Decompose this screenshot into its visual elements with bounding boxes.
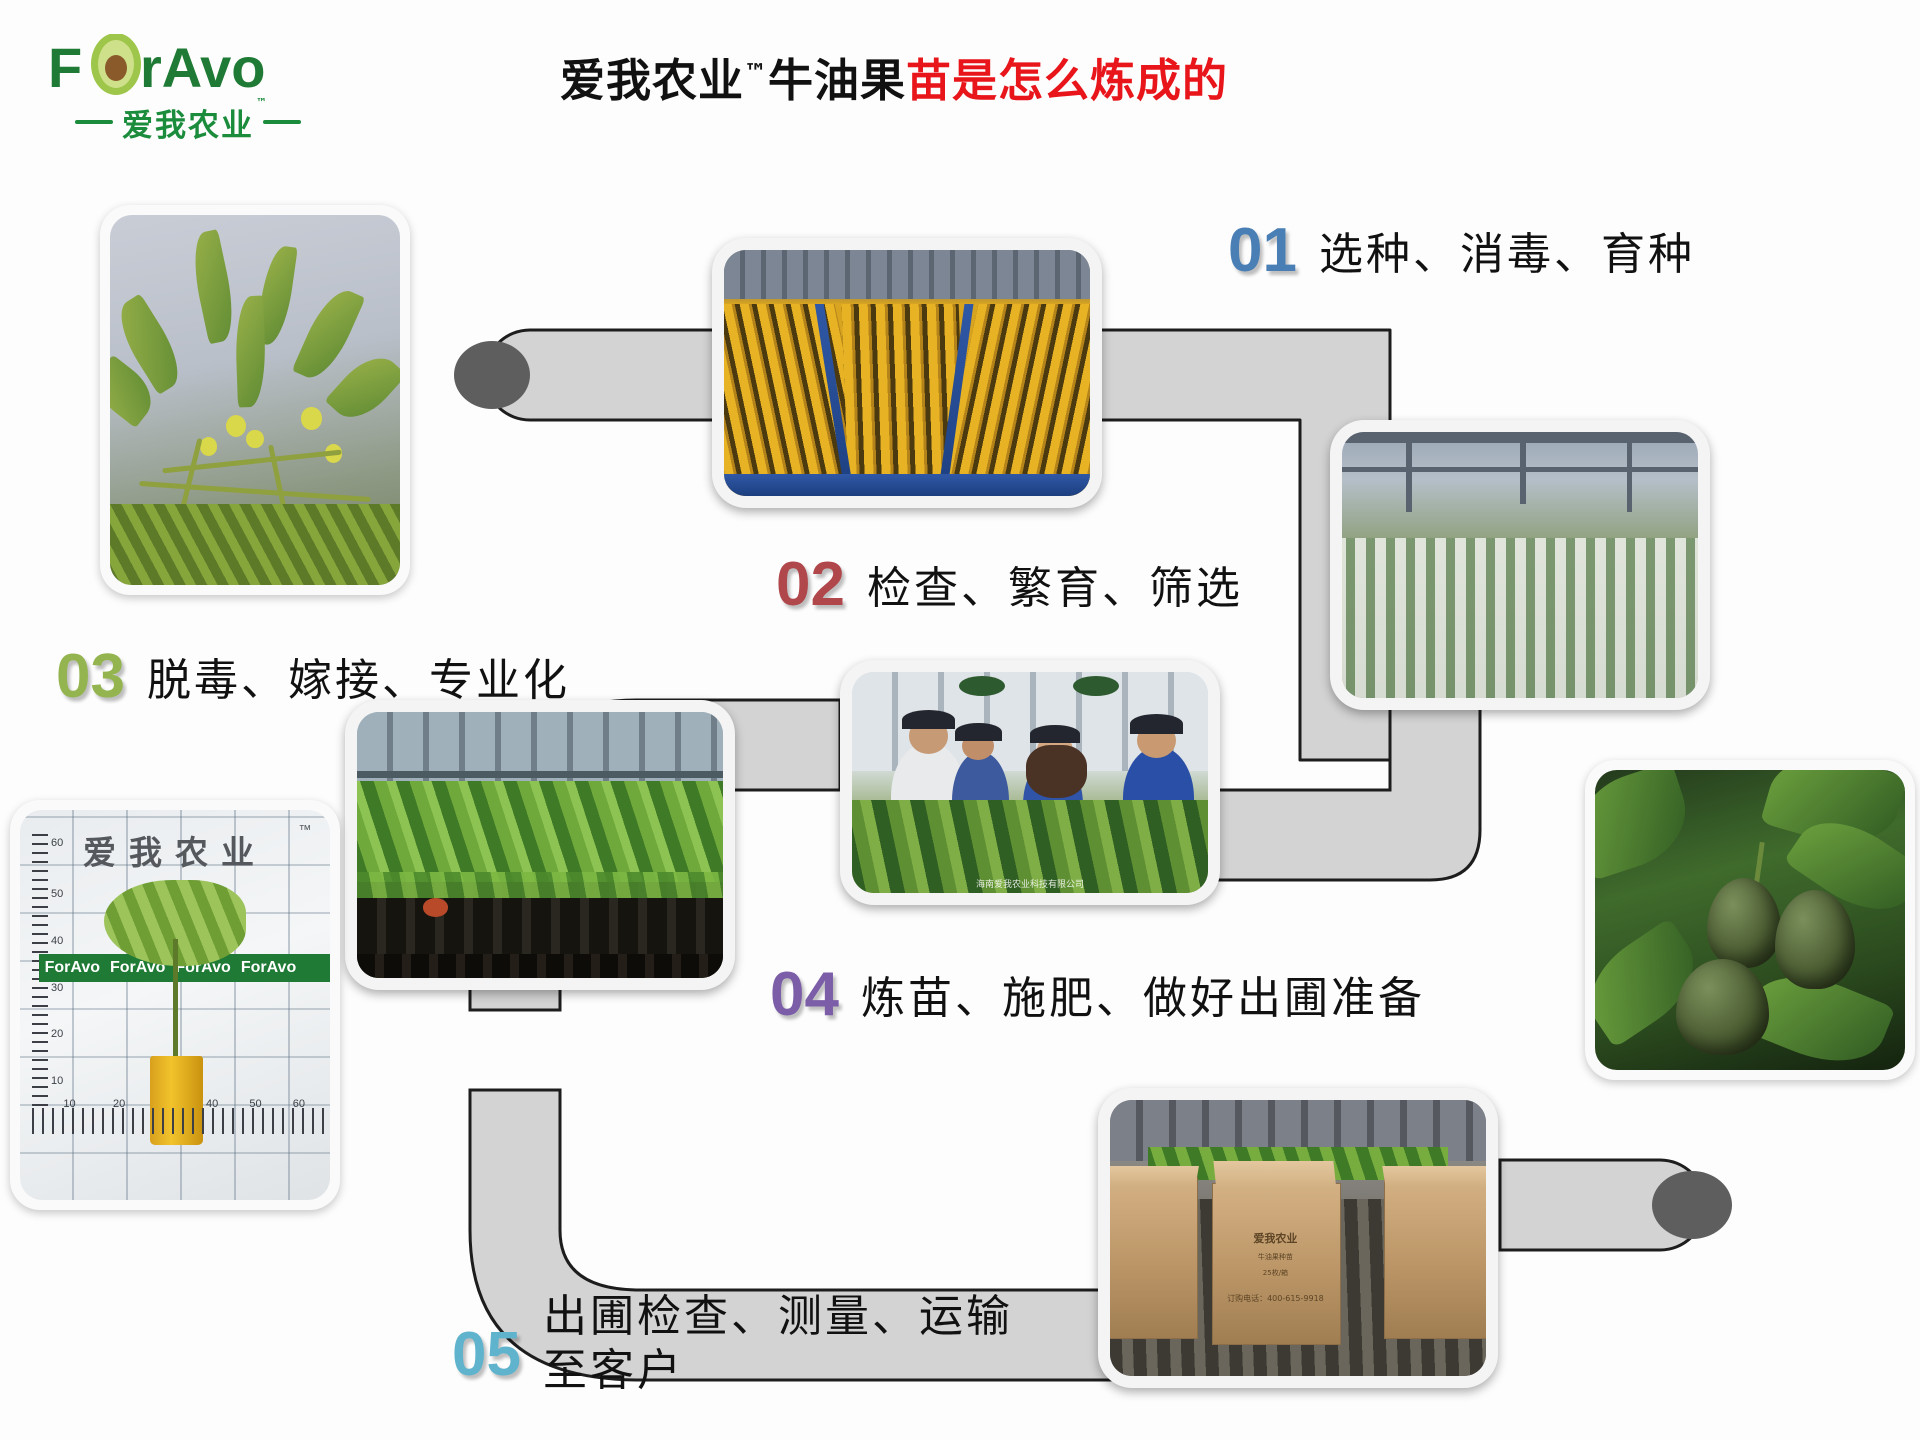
photo-seed-germination-trays — [712, 238, 1102, 508]
brand-tm: ™ — [256, 96, 269, 109]
step-number-01: 01 — [1228, 222, 1297, 281]
photo-inner — [357, 712, 723, 978]
svg-text:rAvo: rAvo — [140, 36, 266, 99]
photo-greenhouse-grafting-bags — [1330, 420, 1710, 710]
step-caption-01: 01 选种、消毒、育种 — [1228, 222, 1695, 282]
step-text-05-line2: 至客户 — [543, 1344, 1013, 1398]
flow-start-dot — [454, 341, 530, 409]
board-tick-v: 40 — [51, 935, 63, 947]
title-tm: ™ — [744, 60, 768, 86]
infographic-canvas: F rAvo 爱我农业 ™ 爱我农业™牛油果苗是怎么炼成的 — [0, 0, 1920, 1440]
logo-dash-left — [75, 120, 113, 124]
photo-potted-seedlings — [345, 700, 735, 990]
photo-team-inspection: 海南爱我农业科技有限公司 — [840, 660, 1220, 905]
title-highlight: 苗是怎么炼成的 — [906, 54, 1228, 107]
step-text-03: 脱毒、嫁接、专业化 — [147, 648, 570, 708]
step-number-02: 02 — [776, 556, 845, 615]
board-tick-v: 30 — [51, 982, 63, 994]
photo-inner — [110, 215, 400, 585]
brand-chinese-label: 爱我农业 ™ — [122, 100, 254, 145]
board-tick-v: 20 — [51, 1028, 63, 1040]
step-text-05-line1: 出圃检查、测量、运输 — [543, 1291, 1013, 1342]
box-line2: 牛油果种苗 — [1212, 1252, 1340, 1262]
photo-inner: 爱我农业 牛油果种苗 25枚/箱 订购电话：400-615-9918 — [1110, 1100, 1486, 1376]
logo-dash-right — [263, 120, 301, 124]
board-tick-v: 50 — [51, 888, 63, 900]
svg-text:F: F — [48, 36, 82, 99]
step-caption-04: 04 炼苗、施肥、做好出圃准备 — [770, 966, 1425, 1026]
photo-inner — [724, 250, 1090, 496]
board-tick-h: 60 — [293, 1098, 305, 1110]
board-tick-v: 10 — [51, 1075, 63, 1087]
flow-end-dot — [1652, 1171, 1732, 1239]
step-number-04: 04 — [770, 966, 839, 1025]
step-text-05: 出圃检查、测量、运输 至客户 — [543, 1290, 1013, 1397]
step-text-02: 检查、繁育、筛选 — [867, 556, 1243, 616]
step-caption-05: 05 出圃检查、测量、运输 至客户 — [452, 1290, 1013, 1397]
page-title: 爱我农业™牛油果苗是怎么炼成的 — [560, 44, 1228, 109]
step-number-03: 03 — [56, 648, 125, 707]
step-number-05: 05 — [452, 1290, 521, 1385]
step-text-04: 炼苗、施肥、做好出圃准备 — [861, 966, 1425, 1026]
board-tick-h: 20 — [113, 1098, 125, 1110]
photo-avocado-fruit — [1585, 760, 1915, 1080]
board-tick-h: 50 — [249, 1098, 261, 1110]
step-caption-03: 03 脱毒、嫁接、专业化 — [56, 648, 570, 708]
title-part-2: 牛油果 — [768, 54, 906, 107]
box-line3: 25枚/箱 — [1212, 1268, 1340, 1278]
photo-measurement-board: 爱我农业 ™ 60 50 40 30 20 10 ForAvo ForAvo F… — [10, 800, 340, 1210]
step-text-01: 选种、消毒、育种 — [1319, 222, 1695, 282]
photo-inner: 爱我农业 ™ 60 50 40 30 20 10 ForAvo ForAvo F… — [20, 810, 330, 1200]
box-phone: 订购电话：400-615-9918 — [1212, 1293, 1340, 1304]
brand-logo: F rAvo 爱我农业 ™ — [48, 34, 318, 144]
foravo-wordmark-icon: F rAvo — [48, 34, 318, 102]
brand-chinese-text: 爱我农业 — [122, 108, 254, 144]
photo-inner: 海南爱我农业科技有限公司 — [852, 672, 1208, 893]
board-tick-h: 10 — [63, 1098, 75, 1110]
board-brand-text: 爱我农业 — [83, 826, 267, 874]
photo-shipping-boxes: 爱我农业 牛油果种苗 25枚/箱 订购电话：400-615-9918 — [1098, 1088, 1498, 1388]
board-tick-v: 60 — [51, 837, 63, 849]
box-brand-text: 爱我农业 — [1212, 1230, 1340, 1246]
band-word: ForAvo — [45, 959, 100, 977]
board-tick-h: 40 — [206, 1098, 218, 1110]
board-horizontal-ruler — [32, 1108, 323, 1134]
brand-chinese-row: 爱我农业 ™ — [58, 100, 318, 144]
photo-avocado-flowering-branch — [100, 205, 410, 595]
photo-inner — [1595, 770, 1905, 1070]
photo-inner — [1342, 432, 1698, 698]
step-caption-02: 02 检查、繁育、筛选 — [776, 556, 1243, 616]
photo-watermark: 海南爱我农业科技有限公司 — [976, 877, 1084, 890]
board-tm: ™ — [298, 822, 311, 837]
title-part-1: 爱我农业 — [560, 54, 744, 107]
band-word: ForAvo — [241, 959, 296, 977]
